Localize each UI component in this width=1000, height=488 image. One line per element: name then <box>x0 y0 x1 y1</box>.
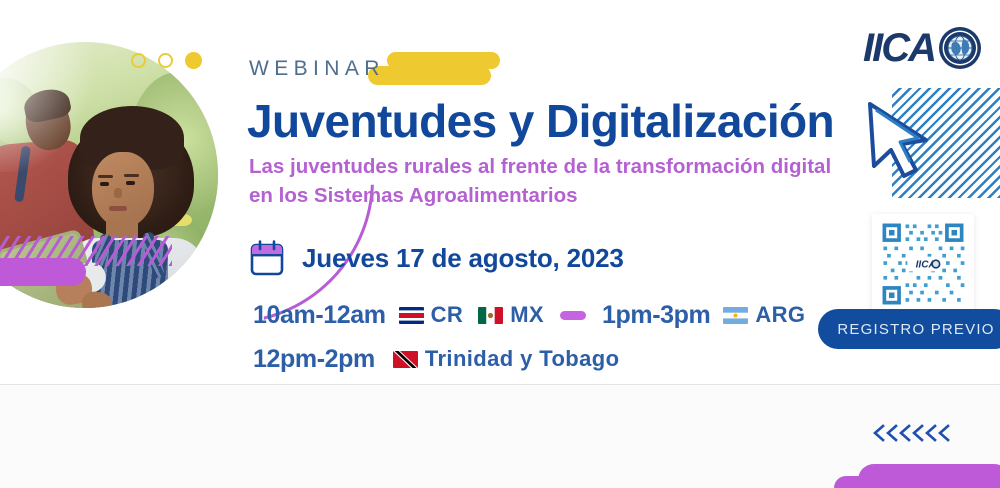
cursor-arrow-icon <box>860 96 938 182</box>
flag-argentina <box>723 307 748 324</box>
country-name-tt: Trinidad y Tobago <box>425 346 620 372</box>
chevron-left-group-icon <box>870 422 954 444</box>
country-code-cr: CR <box>431 302 464 328</box>
page-title: Juventudes y Digitalización <box>247 94 834 148</box>
page-subtitle: Las juventudes rurales al frente de la t… <box>249 152 859 210</box>
registro-previo-button[interactable]: REGISTRO PREVIO <box>818 309 1000 349</box>
purple-bar-bottom-right-decor <box>858 464 1000 488</box>
time-row-1: 10am-12am CR MX 1pm-3pm <box>253 296 805 334</box>
eyebrow-label: WEBINAR <box>249 57 385 81</box>
yellow-bar-bottom-decor <box>368 66 491 85</box>
iica-logo: IICA <box>863 26 982 70</box>
time-label-arg: 1pm-3pm <box>602 301 710 330</box>
time-row-2: 12pm-2pm Trinidad y Tobago <box>253 340 805 378</box>
country-code-mx: MX <box>510 302 544 328</box>
time-label-tt: 12pm-2pm <box>253 345 375 374</box>
globe-emblem-icon <box>938 26 982 70</box>
webinar-flyer: IICA WEBINAR Juventudes y Digitalización… <box>0 0 1000 488</box>
purple-bar-decor <box>0 258 86 286</box>
calendar-icon <box>250 240 284 276</box>
registro-previo-label: REGISTRO PREVIO <box>837 321 994 338</box>
flag-trinidad-tobago <box>393 351 418 368</box>
iica-wordmark: IICA <box>863 28 935 68</box>
footer: YouTube @IICAnews TRANSMISIÓN EN INGLÉS … <box>0 385 1000 488</box>
qr-code-graphic: IICA <box>876 218 970 310</box>
event-date: Jueves 17 de agosto, 2023 <box>302 243 624 274</box>
time-label-cr-mx: 10am-12am <box>253 301 386 330</box>
qr-code-icon[interactable]: IICA <box>872 214 974 314</box>
time-separator-dash <box>560 311 586 320</box>
event-times: 10am-12am CR MX 1pm-3pm <box>253 296 805 378</box>
flag-mexico <box>478 307 503 324</box>
event-date-row: Jueves 17 de agosto, 2023 <box>250 240 624 276</box>
yellow-dots-decor <box>131 52 202 69</box>
flag-costa-rica <box>399 307 424 324</box>
country-code-arg: ARG <box>755 302 805 328</box>
